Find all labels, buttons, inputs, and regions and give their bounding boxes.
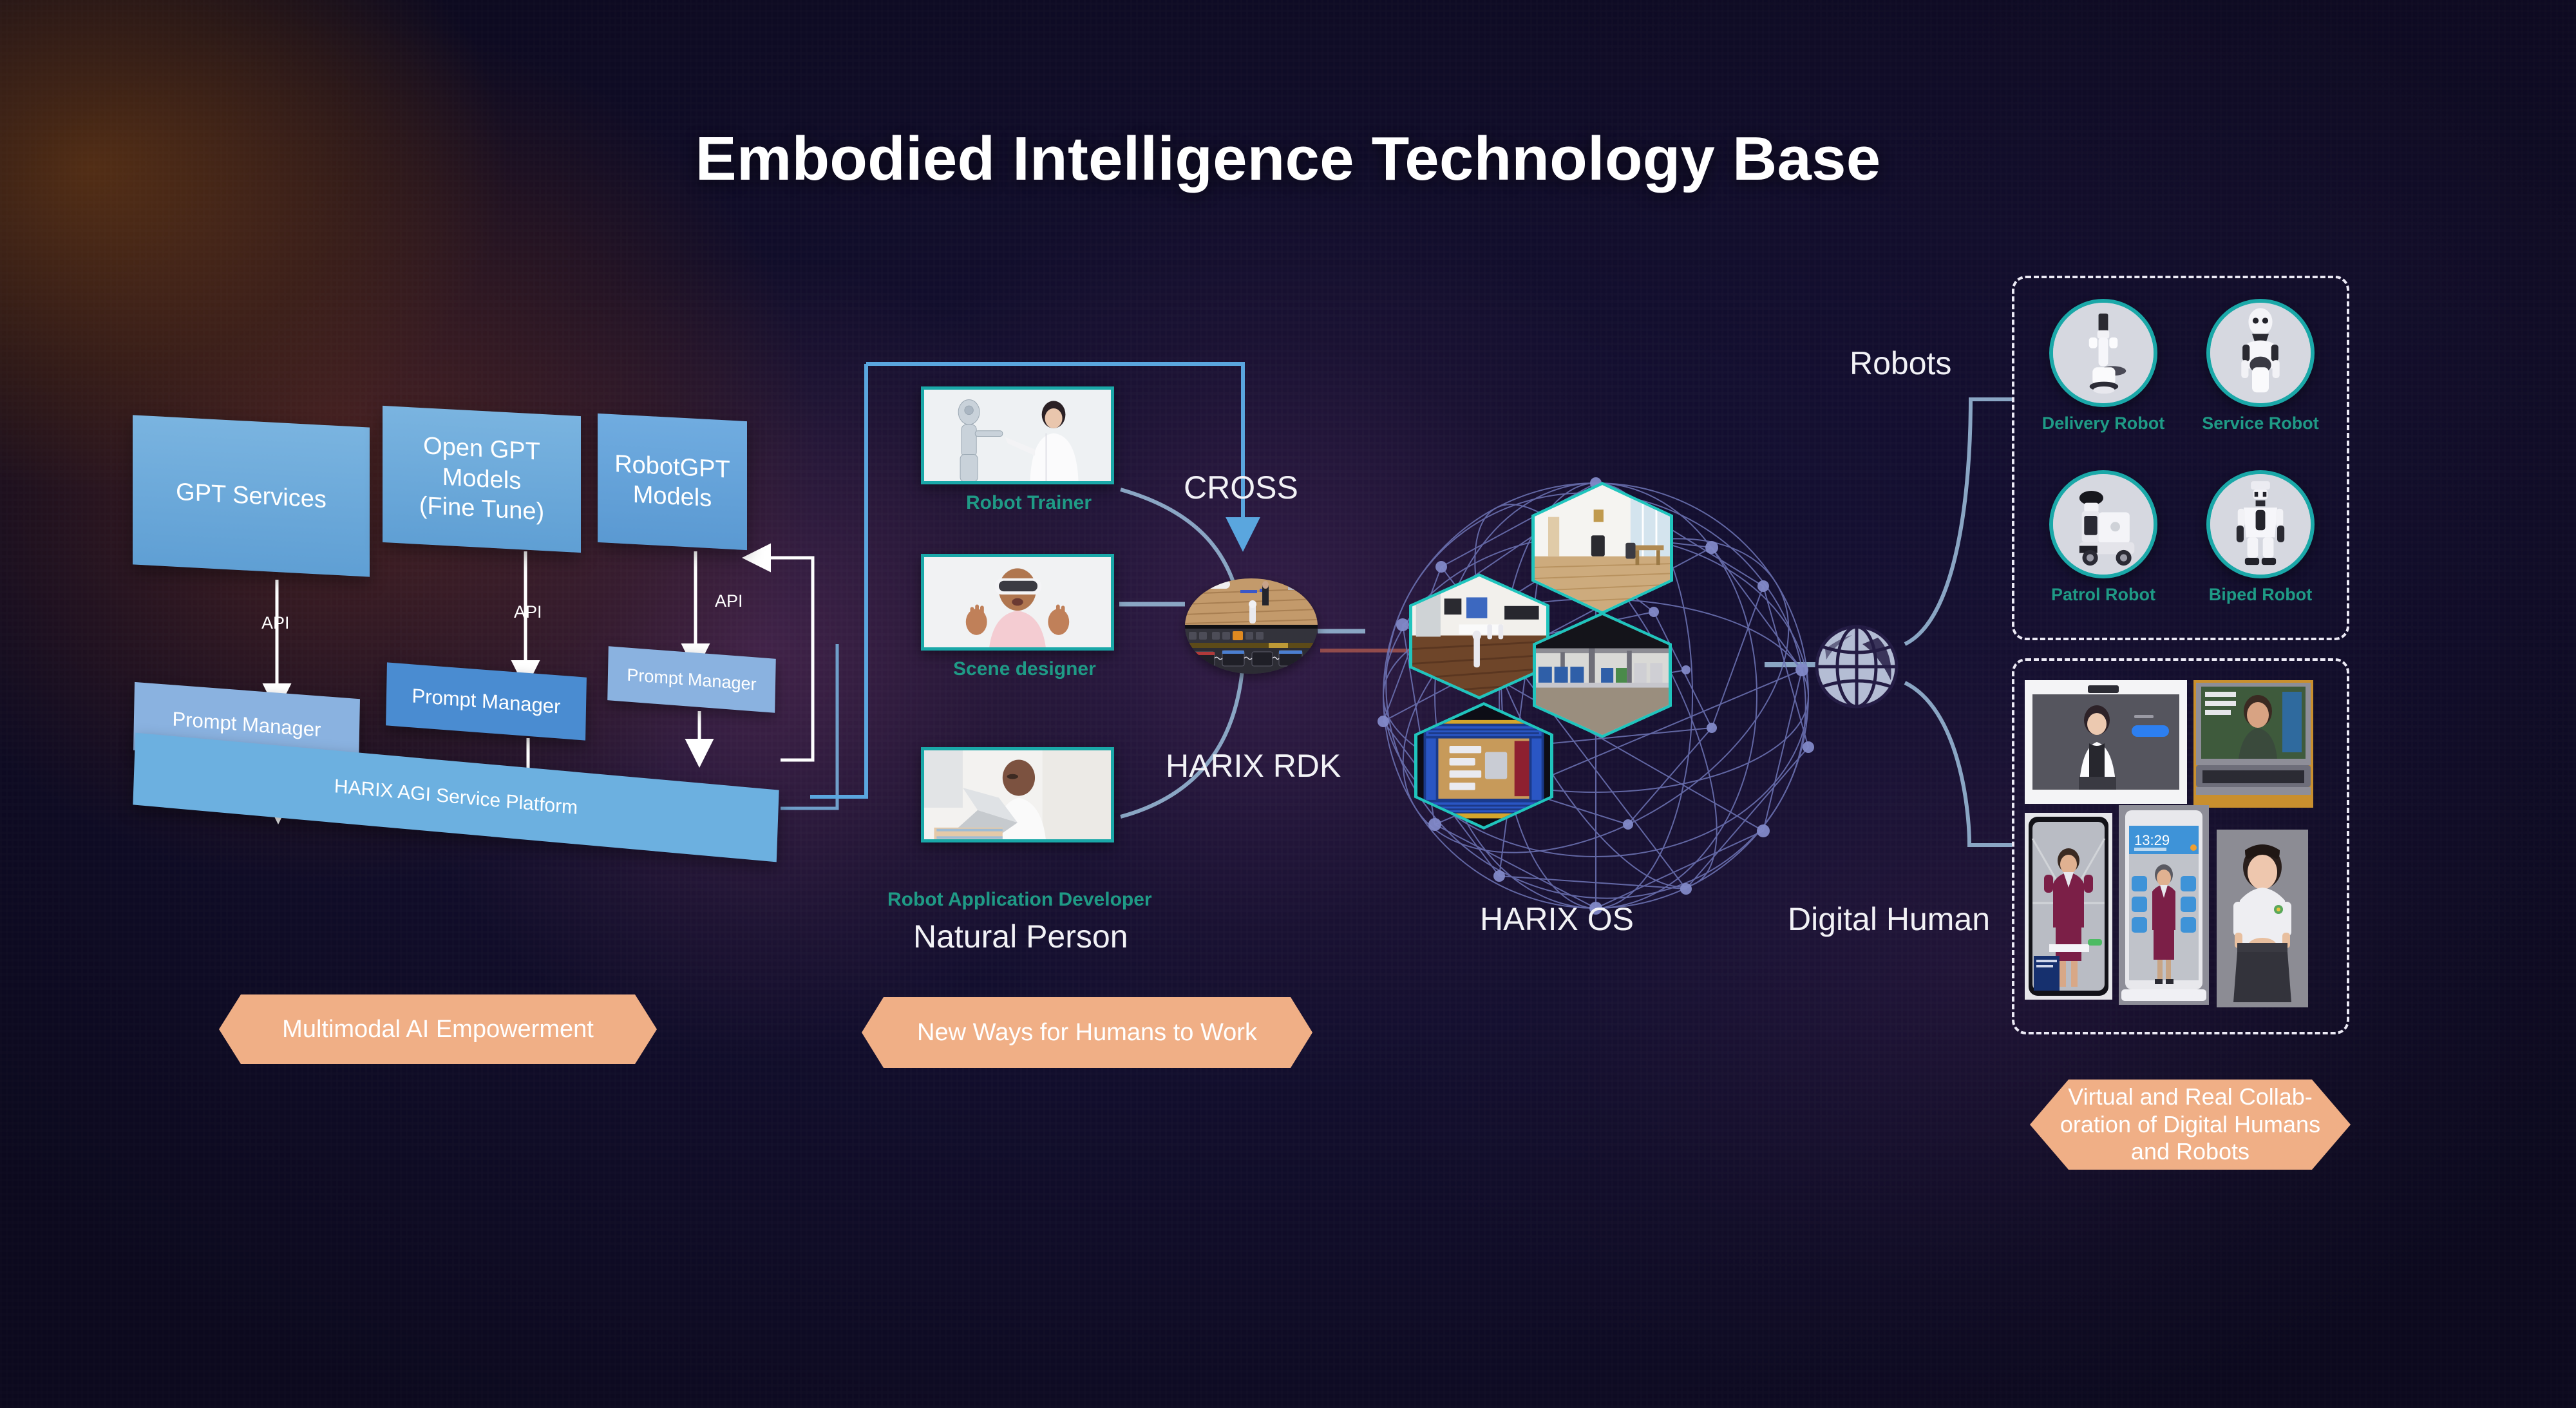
digital-human-panel: 13:29 — [2012, 658, 2349, 1034]
prompt-manager-1-label: Prompt Manager — [172, 707, 321, 741]
robot-item-delivery[interactable]: Delivery Robot — [2030, 299, 2177, 433]
standing-display-avatar: 13:29 — [2119, 805, 2209, 1005]
phone-avatar — [2025, 813, 2112, 1000]
robot-caption-service: Service Robot — [2187, 414, 2334, 433]
card-robot-trainer[interactable] — [921, 386, 1114, 484]
digital-human-laptop[interactable] — [2193, 680, 2313, 808]
casual-avatar — [2217, 830, 2308, 1007]
robot-caption-patrol: Patrol Robot — [2030, 585, 2177, 605]
card-scene-designer[interactable] — [921, 554, 1114, 651]
api-label-1: API — [261, 613, 290, 633]
card-robot-application-developer[interactable] — [921, 747, 1114, 842]
robotgpt-models-label: RobotGPTModels — [614, 449, 730, 515]
caption-robot-application-developer: Robot Application Developer — [887, 889, 1152, 911]
robot-and-trainer-photo — [924, 390, 1111, 484]
harix-agi-platform-label: HARIX AGI Service Platform — [334, 775, 578, 819]
banner-multimodal-ai-empowerment: Multimodal AI Empowerment — [219, 994, 657, 1064]
svg-text:13:29: 13:29 — [2134, 832, 2170, 848]
robot-item-biped[interactable]: Biped Robot — [2187, 470, 2334, 605]
globe-icon — [1808, 618, 1905, 715]
cross-label: CROSS — [1184, 469, 1298, 506]
prompt-manager-3-label: Prompt Manager — [627, 665, 757, 694]
service-robot-icon — [2206, 299, 2315, 407]
laptop-video-avatar — [2193, 680, 2313, 808]
caption-scene-designer: Scene designer — [953, 658, 1096, 680]
digital-human-phone[interactable] — [2025, 813, 2112, 1000]
api-label-3: API — [715, 591, 743, 611]
banner-virtual-real-collaboration: Virtual and Real Collab-oration of Digit… — [2030, 1080, 2351, 1170]
harix-os-label: HARIX OS — [1480, 900, 1634, 938]
robot-caption-delivery: Delivery Robot — [2030, 414, 2177, 433]
patrol-robot-photo — [2053, 474, 2154, 575]
robot-item-patrol[interactable]: Patrol Robot — [2030, 470, 2177, 605]
open-gpt-models-label: Open GPTModels(Fine Tune) — [419, 431, 544, 527]
digital-human-kiosk[interactable] — [2025, 680, 2187, 804]
service-robot-photo — [2210, 303, 2311, 403]
delivery-robot-photo — [2053, 303, 2154, 403]
banner-newways-label: New Ways for Humans to Work — [917, 1018, 1257, 1047]
delivery-robot-icon — [2049, 299, 2157, 407]
robotgpt-models-box[interactable]: RobotGPTModels — [598, 414, 747, 550]
gpt-services-box[interactable]: GPT Services — [133, 415, 370, 576]
banner-multimodal-label: Multimodal AI Empowerment — [282, 1015, 594, 1044]
page-title: Embodied Intelligence Technology Base — [0, 124, 2576, 195]
open-gpt-models-box[interactable]: Open GPTModels(Fine Tune) — [383, 406, 581, 553]
gpt-services-label: GPT Services — [176, 477, 327, 515]
biped-robot-photo — [2210, 474, 2311, 575]
robots-label: Robots — [1850, 345, 1951, 382]
robot-caption-biped: Biped Robot — [2187, 585, 2334, 605]
api-label-2: API — [514, 602, 542, 622]
harix-os-network-sphere — [1351, 451, 1841, 940]
vr-headset-user-photo — [924, 557, 1111, 651]
patrol-robot-icon — [2049, 470, 2157, 578]
kiosk-screen-avatar — [2025, 680, 2187, 804]
digital-human-label: Digital Human — [1788, 900, 1990, 938]
robot-item-service[interactable]: Service Robot — [2187, 299, 2334, 433]
robots-panel: Delivery Robot Service Robot — [2012, 276, 2349, 640]
globe-glyph — [1808, 618, 1905, 715]
caption-robot-trainer: Robot Trainer — [966, 492, 1092, 514]
digital-human-casual[interactable] — [2217, 830, 2308, 1007]
prompt-manager-2-label: Prompt Manager — [412, 684, 561, 718]
harix-rdk-label: HARIX RDK — [1166, 747, 1341, 785]
developer-with-laptop-photo — [924, 750, 1111, 842]
banner-virtual-label: Virtual and Real Collab-oration of Digit… — [2060, 1083, 2320, 1165]
3d-editor-robot-scene — [1185, 578, 1318, 674]
digital-human-display[interactable]: 13:29 — [2119, 805, 2209, 1005]
natural-person-label: Natural Person — [913, 918, 1128, 955]
harix-rdk-thumbnail[interactable] — [1185, 578, 1318, 674]
banner-new-ways-for-humans-to-work: New Ways for Humans to Work — [862, 997, 1312, 1068]
biped-robot-icon — [2206, 470, 2315, 578]
